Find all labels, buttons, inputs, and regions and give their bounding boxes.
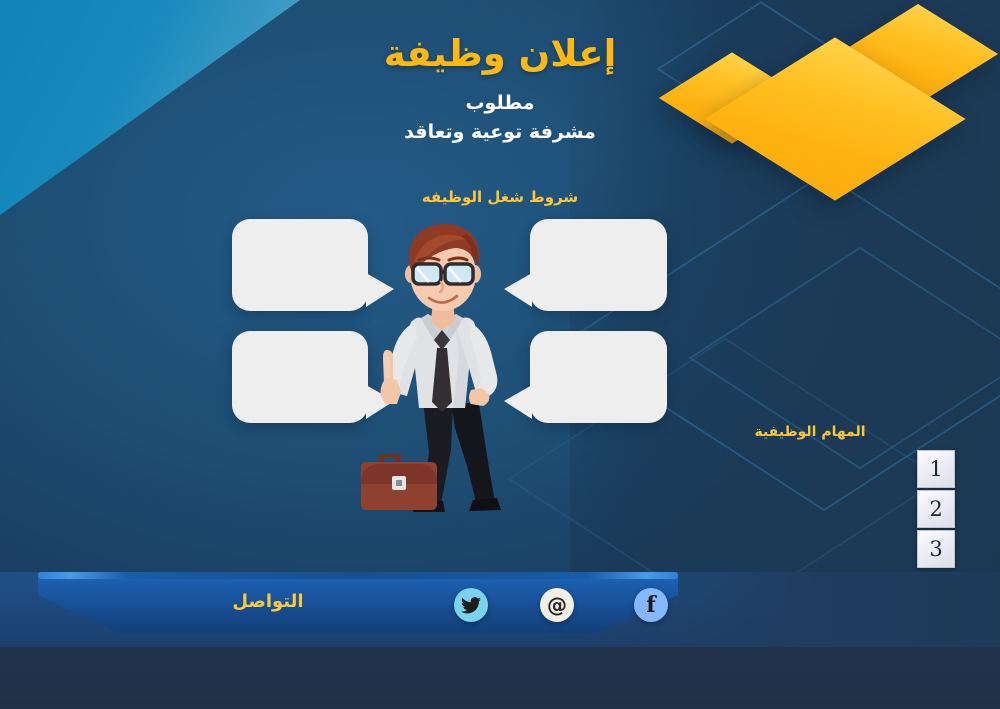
task-number-box-1[interactable]: 1 (917, 450, 955, 488)
subtitle-wanted: مطلوب (0, 92, 1000, 114)
facebook-icon[interactable]: f (634, 588, 668, 622)
email-icon[interactable]: @ (540, 588, 574, 622)
at-glyph: @ (547, 595, 567, 615)
speech-bubble-condition-4[interactable] (530, 331, 667, 423)
contact-label: التواصل (38, 591, 498, 612)
poster-canvas: إعلان وظيفة مطلوب مشرفة توعية وتعاقد شرو… (0, 0, 1000, 709)
facebook-glyph: f (646, 594, 655, 616)
contact-ribbon-highlight (38, 572, 678, 579)
task-number-box-2[interactable]: 2 (917, 490, 955, 528)
speech-bubble-condition-3[interactable] (232, 331, 368, 423)
section-heading-tasks: المهام الوظيفية (700, 424, 920, 440)
page-title: إعلان وظيفة (0, 32, 1000, 75)
section-heading-conditions: شروط شغل الوظيفه (0, 188, 1000, 206)
task-number-box-3[interactable]: 3 (917, 530, 955, 568)
speech-bubble-condition-1[interactable] (232, 219, 368, 311)
speech-bubble-condition-2[interactable] (530, 219, 667, 311)
businessman-illustration (355, 218, 545, 520)
twitter-icon[interactable] (454, 588, 488, 622)
bottom-dark-band (0, 647, 1000, 709)
briefcase-icon (361, 454, 437, 510)
subtitle-position: مشرفة توعية وتعاقد (0, 121, 1000, 143)
